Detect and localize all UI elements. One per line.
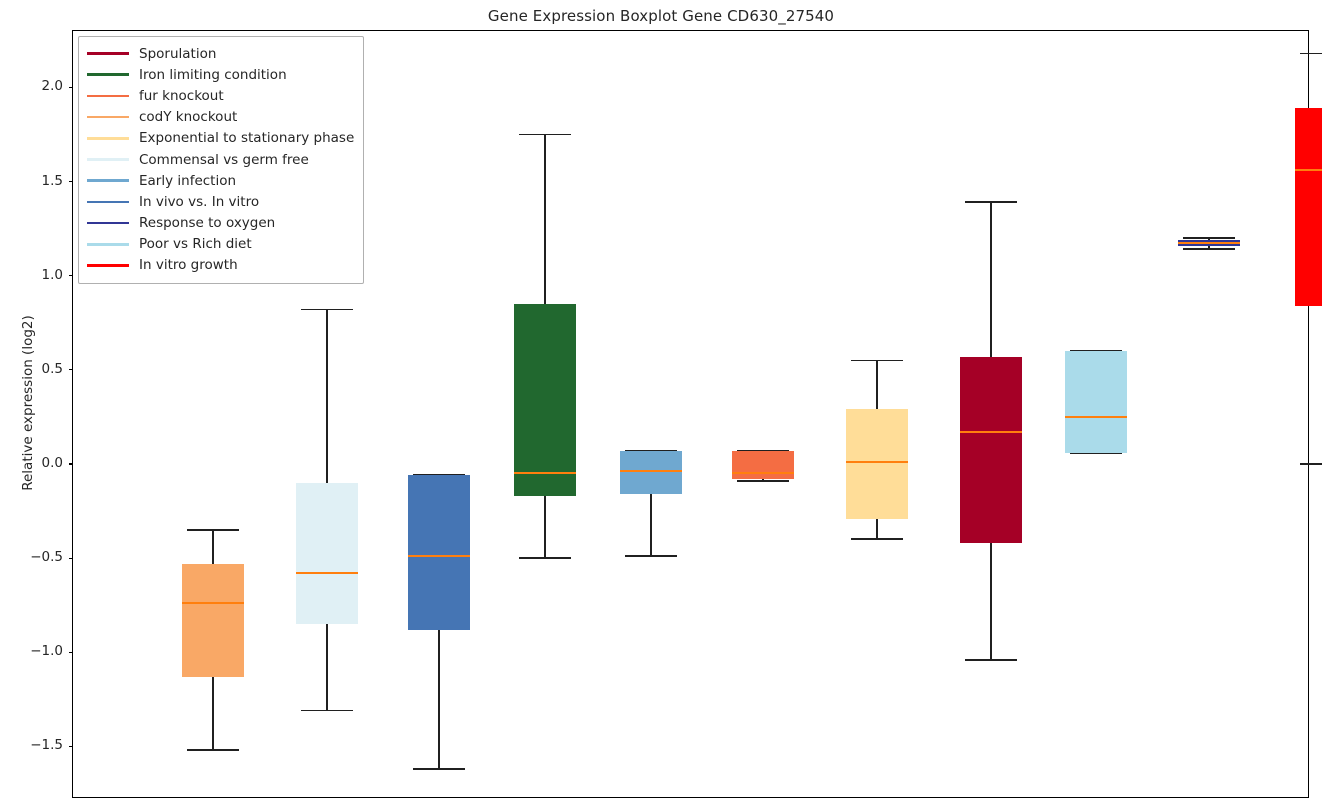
y-tick-mark xyxy=(69,87,74,88)
legend-color-swatch xyxy=(87,264,129,267)
legend-item-label: Poor vs Rich diet xyxy=(139,236,252,252)
whisker-cap-lower xyxy=(1300,463,1322,465)
whisker-cap-upper xyxy=(965,201,1017,203)
median-line xyxy=(182,602,244,604)
median-line xyxy=(846,461,908,463)
y-tick-mark xyxy=(69,369,74,370)
legend-color-swatch xyxy=(87,137,129,140)
y-tick-mark xyxy=(69,558,74,559)
whisker-cap-lower xyxy=(413,768,465,770)
y-tick-label: 1.0 xyxy=(9,267,63,283)
whisker-cap-upper xyxy=(1183,237,1235,239)
y-tick-mark xyxy=(69,463,74,464)
whisker-upper xyxy=(544,135,546,304)
whisker-cap-lower xyxy=(625,555,677,557)
y-tick-label: −0.5 xyxy=(9,549,63,565)
y-tick-mark xyxy=(69,181,74,182)
whisker-upper xyxy=(326,310,328,483)
y-tick-label: −1.0 xyxy=(9,643,63,659)
whisker-cap-upper xyxy=(301,309,353,311)
legend-item[interactable]: In vivo vs. In vitro xyxy=(87,191,354,212)
whisker-cap-upper xyxy=(187,529,239,531)
legend-item[interactable]: Commensal vs germ free xyxy=(87,149,354,170)
legend-color-swatch xyxy=(87,73,129,76)
legend-item[interactable]: Response to oxygen xyxy=(87,213,354,234)
median-line xyxy=(1178,242,1240,244)
legend-color-swatch xyxy=(87,179,129,182)
legend-item-label: Commensal vs germ free xyxy=(139,152,309,168)
legend-color-swatch xyxy=(87,116,129,119)
whisker-lower xyxy=(438,630,440,769)
whisker-cap-lower xyxy=(301,710,353,712)
whisker-lower xyxy=(650,494,652,556)
legend-color-swatch xyxy=(87,52,129,55)
median-line xyxy=(732,472,794,474)
median-line xyxy=(1295,169,1322,171)
box-rect[interactable] xyxy=(408,475,470,629)
legend-item-label: Iron limiting condition xyxy=(139,67,287,83)
median-line xyxy=(296,572,358,574)
legend-color-swatch xyxy=(87,95,129,98)
legend-item[interactable]: fur knockout xyxy=(87,85,354,106)
whisker-cap-lower xyxy=(965,659,1017,661)
legend-item-label: Response to oxygen xyxy=(139,215,275,231)
legend-item-label: codY knockout xyxy=(139,109,237,125)
legend-item-label: Early infection xyxy=(139,173,236,189)
legend-item[interactable]: Early infection xyxy=(87,170,354,191)
whisker-lower xyxy=(544,496,546,558)
legend-item[interactable]: codY knockout xyxy=(87,107,354,128)
legend-item-label: Exponential to stationary phase xyxy=(139,130,354,146)
whisker-cap-lower xyxy=(737,480,789,482)
box-rect[interactable] xyxy=(732,451,794,479)
median-line xyxy=(1065,416,1127,418)
boxplot-figure: Gene Expression Boxplot Gene CD630_27540… xyxy=(0,0,1322,812)
whisker-cap-upper xyxy=(851,360,903,362)
box-rect[interactable] xyxy=(1065,351,1127,453)
legend-item[interactable]: Poor vs Rich diet xyxy=(87,234,354,255)
whisker-upper xyxy=(212,530,214,564)
legend: SporulationIron limiting conditionfur kn… xyxy=(78,36,364,284)
legend-color-swatch xyxy=(87,158,129,161)
legend-item-label: In vivo vs. In vitro xyxy=(139,194,259,210)
legend-color-swatch xyxy=(87,243,129,246)
y-tick-label: −1.5 xyxy=(9,737,63,753)
legend-item[interactable]: In vitro growth xyxy=(87,255,354,276)
box-rect[interactable] xyxy=(296,483,358,624)
whisker-cap-upper xyxy=(1300,53,1322,55)
whisker-lower xyxy=(876,519,878,540)
box-rect[interactable] xyxy=(846,409,908,518)
box-rect[interactable] xyxy=(1295,108,1322,306)
legend-item-label: fur knockout xyxy=(139,88,224,104)
legend-item[interactable]: Iron limiting condition xyxy=(87,64,354,85)
whisker-lower xyxy=(326,624,328,711)
y-tick-label: 0.0 xyxy=(9,455,63,471)
whisker-lower xyxy=(990,543,992,660)
legend-item-label: Sporulation xyxy=(139,46,216,62)
median-line xyxy=(408,555,470,557)
whisker-lower xyxy=(212,677,214,750)
legend-item[interactable]: Exponential to stationary phase xyxy=(87,128,354,149)
legend-color-swatch xyxy=(87,222,129,225)
y-tick-mark xyxy=(69,746,74,747)
whisker-upper xyxy=(876,360,878,409)
legend-item-label: In vitro growth xyxy=(139,257,238,273)
y-tick-label: 0.5 xyxy=(9,361,63,377)
whisker-upper xyxy=(990,202,992,356)
box-rect[interactable] xyxy=(514,304,576,496)
box-rect[interactable] xyxy=(182,564,244,677)
whisker-cap-lower xyxy=(519,557,571,559)
y-tick-mark xyxy=(69,275,74,276)
whisker-cap-lower xyxy=(187,749,239,751)
legend-item[interactable]: Sporulation xyxy=(87,43,354,64)
y-tick-label: 1.5 xyxy=(9,173,63,189)
legend-color-swatch xyxy=(87,201,129,204)
median-line xyxy=(514,472,576,474)
y-tick-label: 2.0 xyxy=(9,78,63,94)
whisker-cap-upper xyxy=(519,134,571,136)
whisker-cap-lower xyxy=(1183,248,1235,250)
whisker-cap-lower xyxy=(851,538,903,540)
y-axis-label: Relative expression (log2) xyxy=(20,283,36,523)
y-tick-mark xyxy=(69,652,74,653)
page-title: Gene Expression Boxplot Gene CD630_27540 xyxy=(0,7,1322,25)
median-line xyxy=(960,431,1022,433)
box-rect[interactable] xyxy=(960,357,1022,543)
median-line xyxy=(620,470,682,472)
